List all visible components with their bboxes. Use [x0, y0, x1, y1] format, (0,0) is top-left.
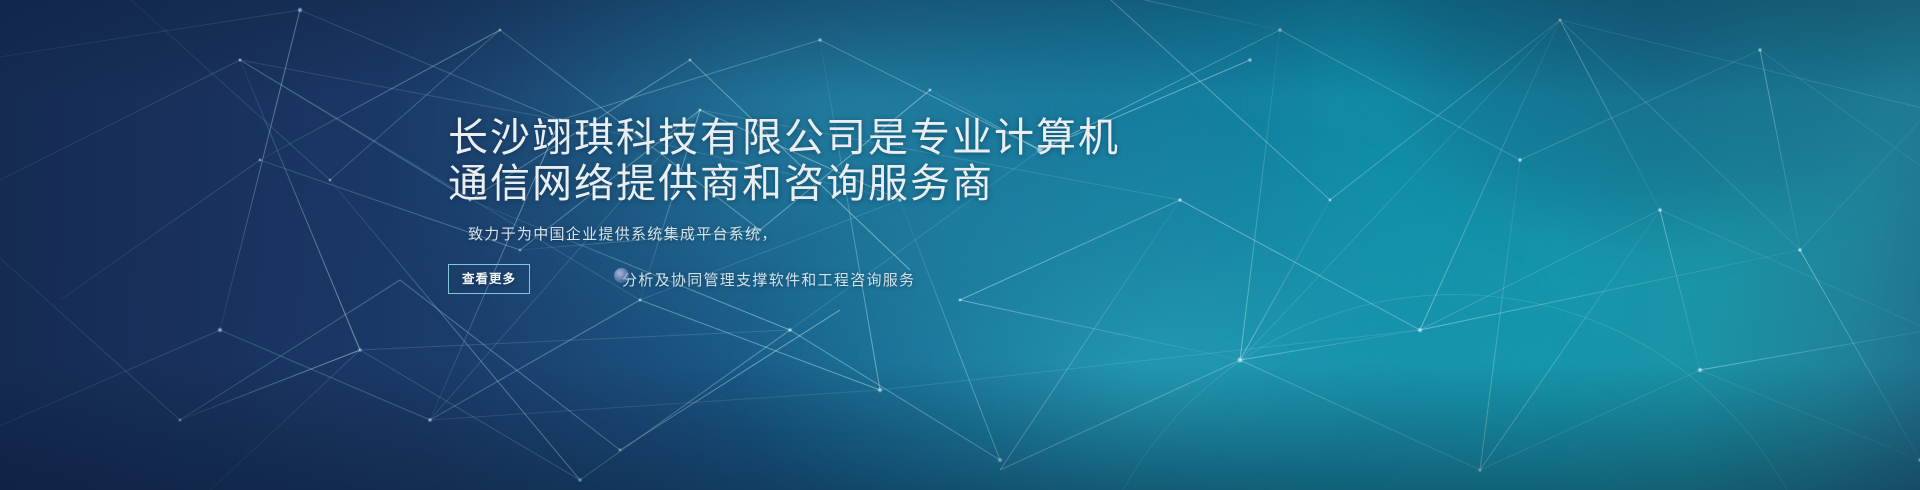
hero-banner: 长沙翊琪科技有限公司是专业计算机 通信网络提供商和咨询服务商 致力于为中国企业提…: [0, 0, 1920, 490]
accent-orb-icon: [614, 268, 629, 283]
view-more-button[interactable]: 查看更多: [448, 264, 530, 294]
headline-line-1: 长沙翊琪科技有限公司是专业计算机: [448, 118, 1508, 159]
headline-line-2: 通信网络提供商和咨询服务商: [448, 164, 1508, 205]
banner-content: 长沙翊琪科技有限公司是专业计算机 通信网络提供商和咨询服务商 致力于为中国企业提…: [448, 118, 1508, 294]
cta-row: 查看更多 分析及协同管理支撑软件和工程咨询服务: [448, 264, 1508, 294]
subtitle-line-2: 分析及协同管理支撑软件和工程咨询服务: [622, 269, 915, 290]
subtitle-line-1: 致力于为中国企业提供系统集成平台系统，: [468, 223, 1508, 244]
